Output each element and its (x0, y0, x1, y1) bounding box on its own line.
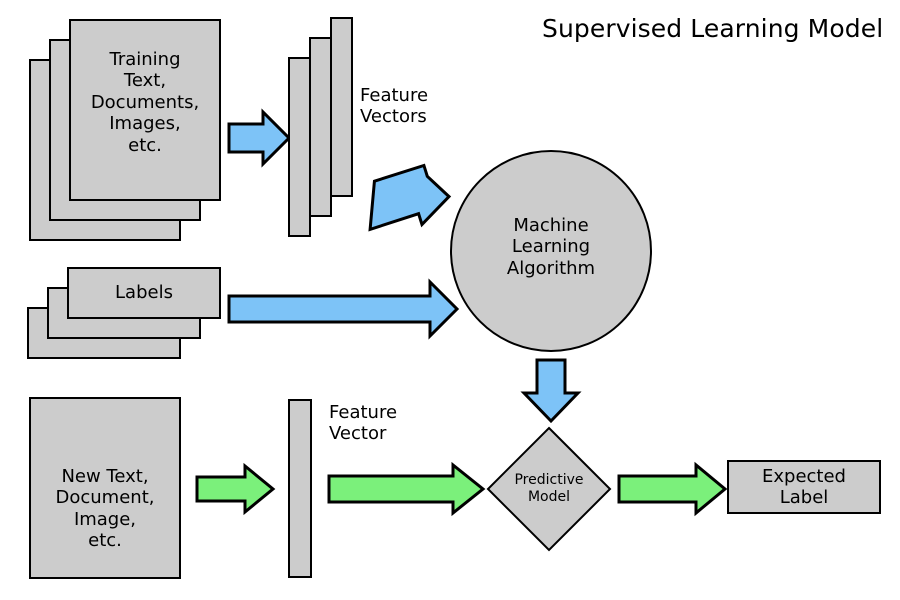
arrow-labels-to-algorithm (229, 282, 457, 336)
arrow-training-to-features (229, 112, 289, 164)
feature-vector-bar-front (289, 58, 310, 236)
arrow-model-to-expectedlabel (619, 465, 725, 513)
training-docs-label: Training Text, Documents, Images, etc. (70, 49, 220, 156)
feature-vector-bar-single (289, 400, 311, 577)
arrow-featurevector-to-model (329, 465, 483, 513)
arrow-newdocs-to-featurevector (197, 466, 273, 512)
feature-vector-bar-back (331, 18, 352, 196)
expected-label-text: Expected Label (728, 466, 880, 509)
labels-label: Labels (68, 282, 220, 303)
new-docs-label: New Text, Document, Image, etc. (30, 466, 180, 552)
feature-vector-bar-middle (310, 38, 331, 216)
feature-vector-label: Feature Vector (329, 402, 449, 445)
feature-vectors-stack (289, 18, 352, 236)
arrow-algorithm-to-model (524, 360, 578, 421)
ml-algorithm-label: Machine Learning Algorithm (471, 215, 631, 279)
arrow-features-to-algorithm (368, 165, 450, 230)
diagram-title: Supervised Learning Model (542, 14, 887, 44)
feature-vectors-label: Feature Vectors (360, 85, 480, 128)
predictive-model-label: Predictive Model (489, 472, 609, 505)
diagram-canvas: Supervised Learning Model Training Text,… (0, 0, 900, 600)
